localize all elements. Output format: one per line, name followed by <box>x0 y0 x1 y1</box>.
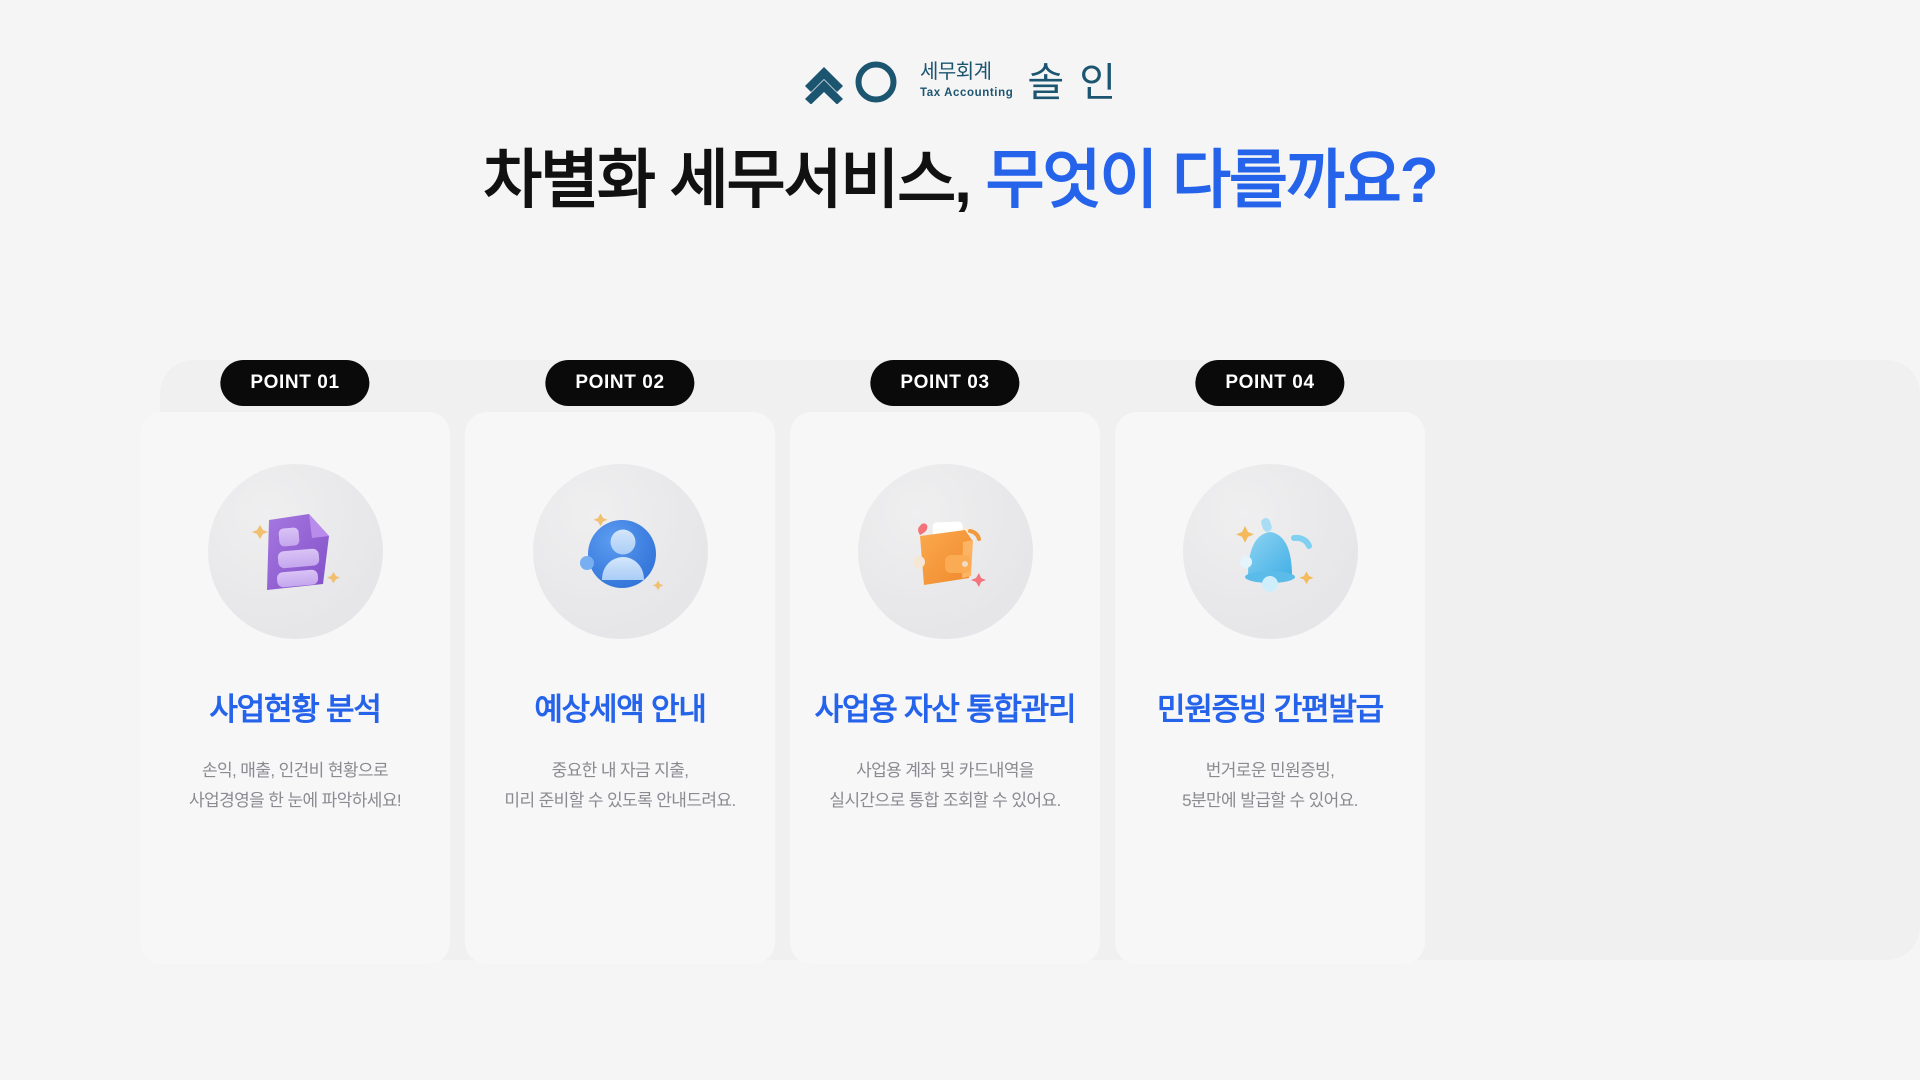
point-icon-container-4 <box>1183 464 1358 639</box>
point-description-3: 사업용 계좌 및 카드내역을 실시간으로 통합 조회할 수 있어요. <box>829 756 1060 816</box>
brand-logo-text: 세무회계 Tax Accounting 솔 인 <box>920 61 1118 104</box>
point-badge-1: POINT 01 <box>220 360 369 406</box>
point-badge-2: POINT 02 <box>545 360 694 406</box>
point-description-4-line1: 번거로운 민원증빙, <box>1182 756 1358 786</box>
point-description-3-line2: 실시간으로 통합 조회할 수 있어요. <box>829 786 1060 816</box>
point-description-2-line2: 미리 준비할 수 있도록 안내드려요. <box>504 786 735 816</box>
point-icon-container-2 <box>533 464 708 639</box>
point-title-1: 사업현황 분석 <box>209 691 380 728</box>
brand-en-label: Tax Accounting <box>920 85 1013 101</box>
point-card-2[interactable]: POINT 02 <box>465 412 775 964</box>
blue-user-circle-icon <box>568 500 672 604</box>
point-card-3[interactable]: POINT 03 <box>790 412 1100 964</box>
point-description-1-line2: 사업경영을 한 눈에 파악하세요! <box>189 786 401 816</box>
point-description-1: 손익, 매출, 인건비 현황으로 사업경영을 한 눈에 파악하세요! <box>189 756 401 816</box>
point-title-4: 민원증빙 간편발급 <box>1157 691 1383 728</box>
point-card-4[interactable]: POINT 04 <box>1115 412 1425 964</box>
point-description-3-line1: 사업용 계좌 및 카드내역을 <box>829 756 1060 786</box>
brand-name: 솔 인 <box>1027 63 1118 104</box>
page-title-blue: 무엇이 다를까요? <box>986 144 1437 216</box>
point-description-4-line2: 5분만에 발급할 수 있어요. <box>1182 786 1358 816</box>
point-icon-container-1 <box>208 464 383 639</box>
point-badge-4: POINT 04 <box>1195 360 1344 406</box>
page-title-black: 차별화 세무서비스, <box>483 144 970 216</box>
chevrons-circle-logo-icon <box>802 56 902 109</box>
point-title-2: 예상세액 안내 <box>534 691 705 728</box>
point-badge-3: POINT 03 <box>870 360 1019 406</box>
orange-wallet-icon <box>893 500 997 604</box>
points-card-list: POINT 01 <box>140 412 1435 964</box>
point-card-1[interactable]: POINT 01 <box>140 412 450 964</box>
brand-logo-subtext: 세무회계 Tax Accounting <box>920 61 1013 104</box>
purple-document-icon <box>243 500 347 604</box>
blue-bell-icon <box>1218 500 1322 604</box>
point-title-3: 사업용 자산 통합관리 <box>815 691 1076 728</box>
point-description-4: 번거로운 민원증빙, 5분만에 발급할 수 있어요. <box>1182 756 1358 816</box>
point-icon-container-3 <box>858 464 1033 639</box>
point-description-2-line1: 중요한 내 자금 지출, <box>504 756 735 786</box>
landing-page: 세무회계 Tax Accounting 솔 인 차별화 세무서비스, 무엇이 다… <box>0 0 1920 1080</box>
brand-logo: 세무회계 Tax Accounting 솔 인 <box>0 56 1920 109</box>
point-description-2: 중요한 내 자금 지출, 미리 준비할 수 있도록 안내드려요. <box>504 756 735 816</box>
page-title: 차별화 세무서비스, 무엇이 다를까요? <box>0 140 1920 220</box>
brand-ko-label: 세무회계 <box>920 61 992 83</box>
point-description-1-line1: 손익, 매출, 인건비 현황으로 <box>189 756 401 786</box>
